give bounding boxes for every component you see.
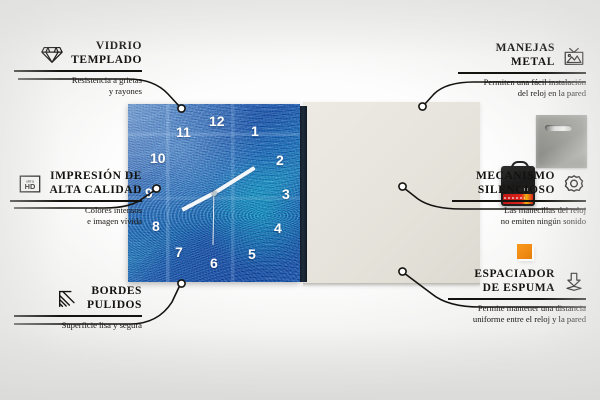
diamond-icon xyxy=(40,43,64,65)
callout-subtitle: Permite mantener una distancia uniforme … xyxy=(448,303,586,326)
callout-subtitle: Resistencia a grietas y rayones xyxy=(14,75,142,98)
clock-numeral-5: 5 xyxy=(248,247,256,261)
foam-spacer xyxy=(517,244,532,259)
callout-mecanismo-silencioso: MECANISMO SILENCIOSO Las manecillas del … xyxy=(452,170,586,227)
clock-numeral-3: 3 xyxy=(282,187,290,201)
diagonal-lines-icon xyxy=(56,288,80,310)
callout-title: MANEJAS METAL xyxy=(496,42,555,69)
picture-frame-icon xyxy=(562,45,586,67)
clock-numeral-10: 10 xyxy=(150,151,166,165)
callout-title: BORDES PULIDOS xyxy=(87,285,142,312)
ultra-hd-icon-bottom: HD xyxy=(25,182,36,191)
clock-center-pivot xyxy=(212,191,217,196)
clock-numeral-11: 11 xyxy=(176,125,191,139)
callout-rule xyxy=(10,200,142,202)
callout-bordes-pulidos: BORDES PULIDOS Superficie lisa y segura xyxy=(14,285,142,331)
callout-rule xyxy=(14,315,142,317)
clock-numeral-7: 7 xyxy=(175,245,183,259)
clock-numeral-4: 4 xyxy=(274,221,282,235)
infographic-canvas: 12 1 2 3 4 5 6 7 8 9 10 11 xyxy=(0,0,600,400)
callout-vidrio-templado: VIDRIO TEMPLADO Resistencia a grietas y … xyxy=(14,40,142,97)
callout-rule xyxy=(458,72,586,74)
clock-face: 12 1 2 3 4 5 6 7 8 9 10 11 xyxy=(128,104,300,282)
callout-title: VIDRIO TEMPLADO xyxy=(71,40,142,67)
callout-rule xyxy=(452,200,586,202)
product-image-group: 12 1 2 3 4 5 6 7 8 9 10 11 xyxy=(128,104,480,282)
wall-clock: 12 1 2 3 4 5 6 7 8 9 10 11 xyxy=(128,104,308,282)
clock-numeral-9: 9 xyxy=(145,186,153,200)
callout-rule xyxy=(14,70,142,72)
clock-numeral-1: 1 xyxy=(251,124,259,138)
ultra-hd-icon: ultra HD xyxy=(18,173,42,195)
callout-subtitle: Superficie lisa y segura xyxy=(14,320,142,331)
callout-title: MECANISMO SILENCIOSO xyxy=(476,170,555,197)
clock-numeral-6: 6 xyxy=(210,256,218,270)
callout-subtitle: Las manecillas del reloj no emiten ningú… xyxy=(452,205,586,228)
callout-title: IMPRESIÓN DE ALTA CALIDAD xyxy=(49,170,142,197)
callout-manejas-metal: MANEJAS METAL Permiten una fácil instala… xyxy=(458,42,586,99)
callout-subtitle: Permiten una fácil instalación del reloj… xyxy=(458,77,586,100)
gear-icon xyxy=(562,173,586,195)
metal-hanger-plate xyxy=(536,115,587,168)
callout-subtitle: Colores intensos e imagen vívida xyxy=(10,205,142,228)
clock-numeral-8: 8 xyxy=(152,219,160,233)
hanger-keyhole-slot xyxy=(545,125,572,131)
clock-numeral-12: 12 xyxy=(209,114,225,128)
callout-impresion-alta-calidad: ultra HD IMPRESIÓN DE ALTA CALIDAD Color… xyxy=(10,170,142,227)
callout-title: ESPACIADOR DE ESPUMA xyxy=(474,268,555,295)
callout-espaciador-espuma: ESPACIADOR DE ESPUMA Permite mantener un… xyxy=(448,268,586,325)
callout-rule xyxy=(448,298,586,300)
clock-numeral-2: 2 xyxy=(276,153,284,167)
arrow-down-pad-icon xyxy=(562,271,586,293)
